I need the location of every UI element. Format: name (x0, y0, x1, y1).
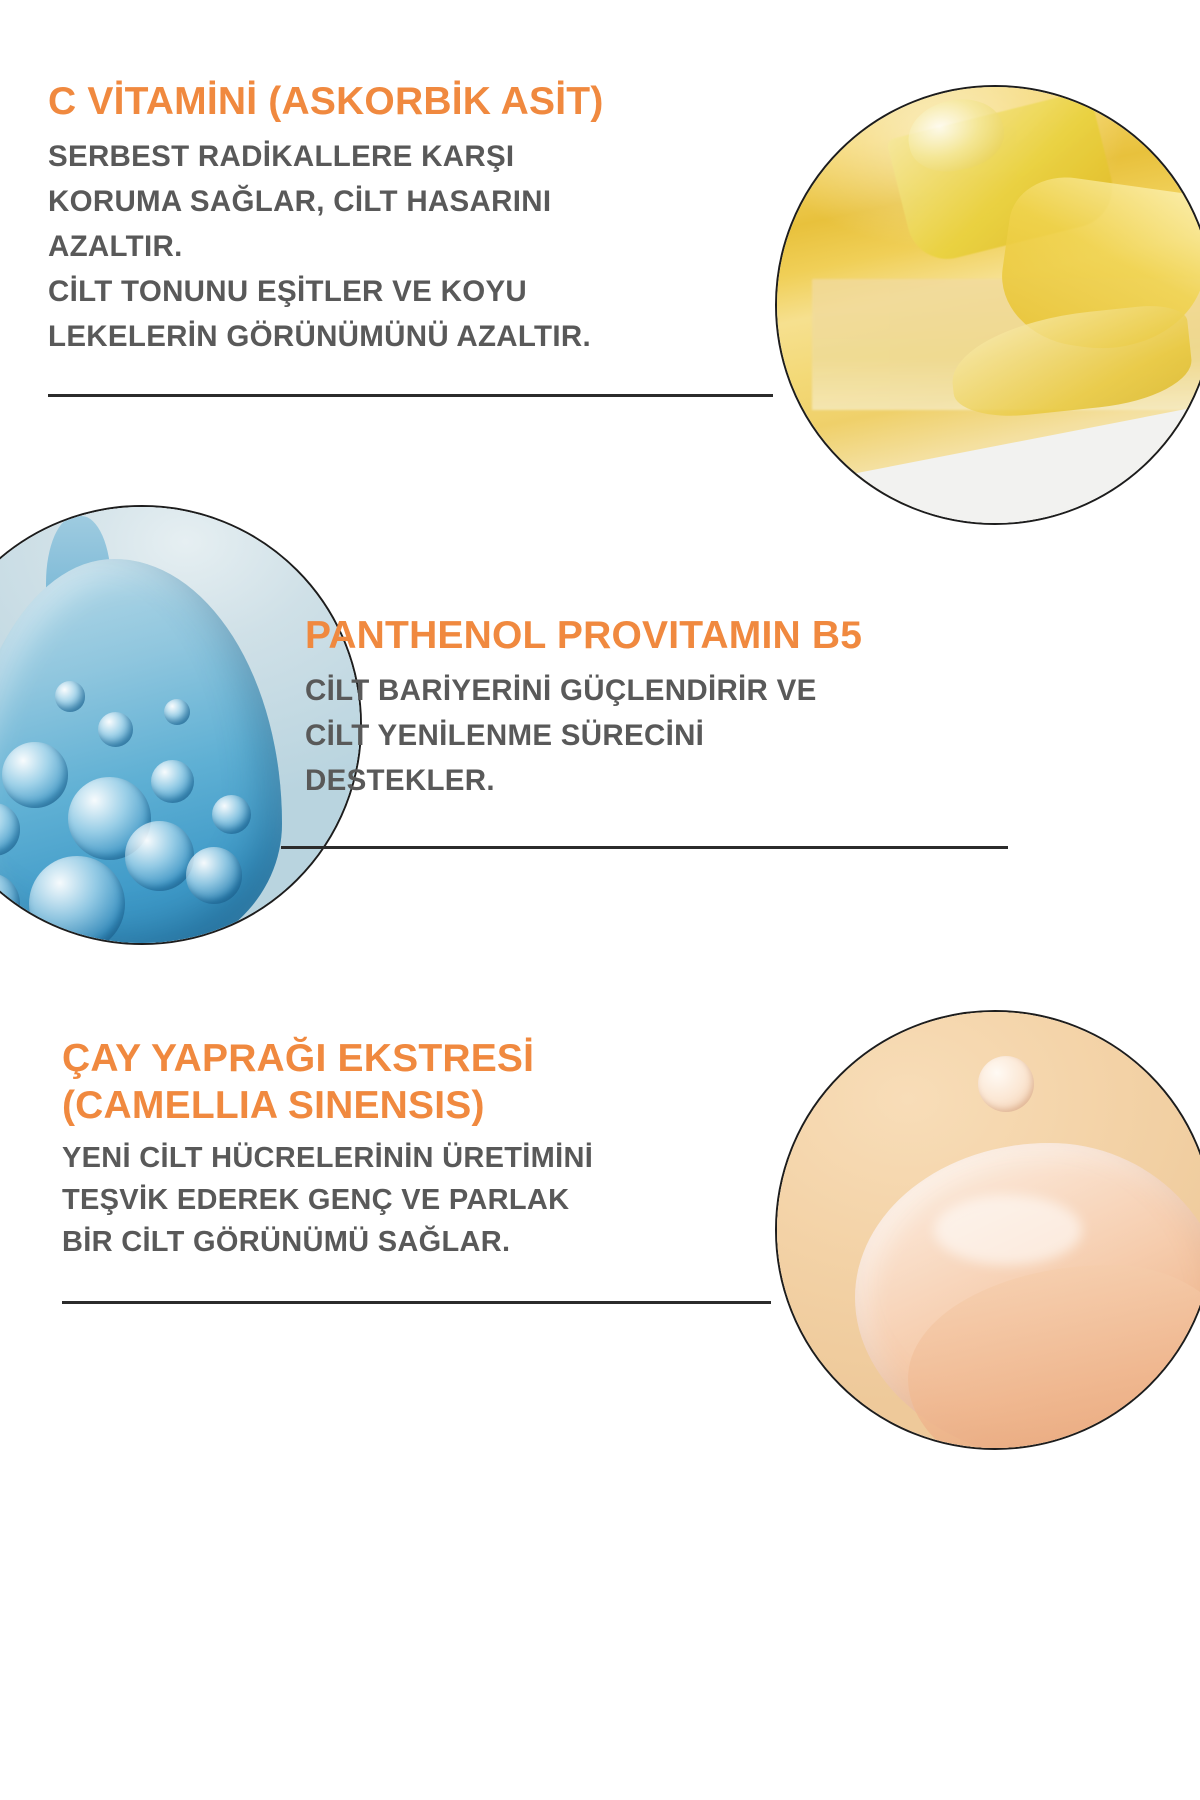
infographic-page: C VİTAMİNİ (ASKORBİK ASİT) SERBEST RADİK… (0, 0, 1200, 1800)
bubble (164, 699, 190, 725)
bubble (186, 847, 243, 904)
section-panthenol-body: CİLT BARİYERİNİ GÜÇLENDİRİR VE CİLT YENİ… (305, 668, 1035, 803)
section-tea-divider (62, 1301, 771, 1304)
section-tea-body: YENİ CİLT HÜCRELERİNİN ÜRETİMİNİ TEŞVİK … (62, 1137, 802, 1263)
section-vitamin-c: C VİTAMİNİ (ASKORBİK ASİT) SERBEST RADİK… (48, 78, 788, 359)
yellow-serum-swatch-image (775, 85, 1200, 525)
section-tea: ÇAY YAPRAĞI EKSTRESİ (CAMELLIA SINENSIS)… (62, 1035, 802, 1263)
bubble (98, 712, 133, 747)
bubble (125, 821, 195, 891)
section-panthenol-divider (281, 846, 1008, 849)
bubble (2, 742, 67, 807)
peach-cream-droplet (978, 1056, 1035, 1113)
peach-cream-swatch-image (775, 1010, 1200, 1450)
section-vitamin-c-body: SERBEST RADİKALLERE KARŞI KORUMA SAĞLAR,… (48, 134, 788, 359)
section-panthenol-title: PANTHENOL PROVITAMIN B5 (305, 612, 1035, 660)
section-tea-title: ÇAY YAPRAĞI EKSTRESİ (CAMELLIA SINENSIS) (62, 1035, 802, 1129)
section-vitamin-c-divider (48, 394, 773, 397)
section-panthenol: PANTHENOL PROVITAMIN B5 CİLT BARİYERİNİ … (305, 612, 1035, 803)
bubble (212, 795, 251, 834)
bubble (29, 856, 125, 945)
bubble (55, 681, 86, 712)
peach-cream-highlight (934, 1195, 1082, 1265)
section-vitamin-c-title: C VİTAMİNİ (ASKORBİK ASİT) (48, 78, 788, 126)
